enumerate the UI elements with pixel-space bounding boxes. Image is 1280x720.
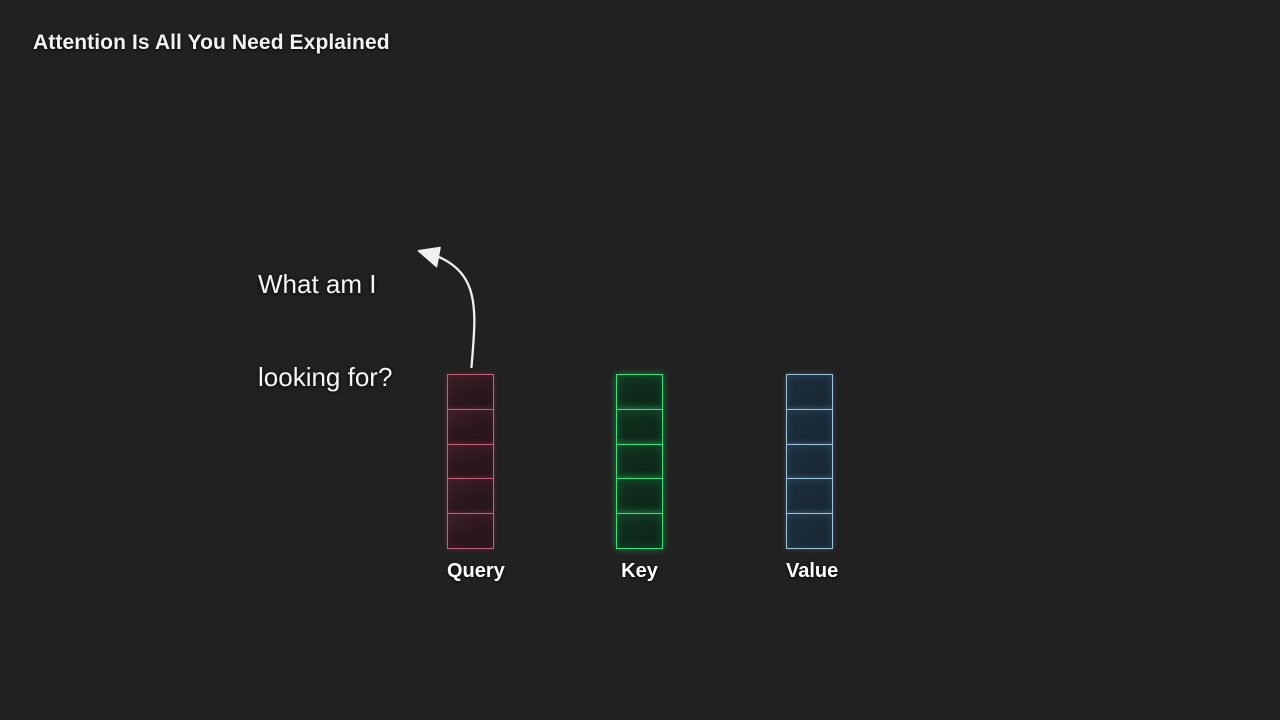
matrix-label-query: Query	[447, 560, 494, 583]
matrix-cell	[616, 513, 663, 549]
matrix-cell	[616, 374, 663, 410]
matrix-cell	[786, 409, 833, 445]
matrix-query[interactable]	[447, 374, 494, 549]
matrix-label-value: Value	[786, 560, 833, 583]
matrix-cell	[447, 513, 494, 549]
matrix-query-group: Query	[447, 374, 494, 549]
curved-arrow-icon	[0, 0, 1280, 720]
annotation-text: What am I looking for?	[258, 207, 392, 455]
matrix-cell	[616, 478, 663, 514]
matrix-label-key: Key	[616, 560, 663, 583]
matrix-key[interactable]	[616, 374, 663, 549]
matrix-key-group: Key	[616, 374, 663, 549]
matrix-cell	[447, 374, 494, 410]
matrix-value-group: Value	[786, 374, 833, 549]
matrix-cell	[786, 478, 833, 514]
matrix-cell	[616, 444, 663, 480]
page-title: Attention Is All You Need Explained	[33, 31, 390, 55]
matrix-cell	[786, 513, 833, 549]
matrix-cell	[447, 444, 494, 480]
annotation-line-1: What am I	[258, 269, 392, 300]
matrix-cell	[786, 444, 833, 480]
matrix-cell	[447, 409, 494, 445]
matrix-cell	[786, 374, 833, 410]
slide-canvas: Attention Is All You Need Explained What…	[0, 0, 1280, 720]
annotation-line-2: looking for?	[258, 362, 392, 393]
matrix-value[interactable]	[786, 374, 833, 549]
matrix-cell	[616, 409, 663, 445]
matrix-cell	[447, 478, 494, 514]
